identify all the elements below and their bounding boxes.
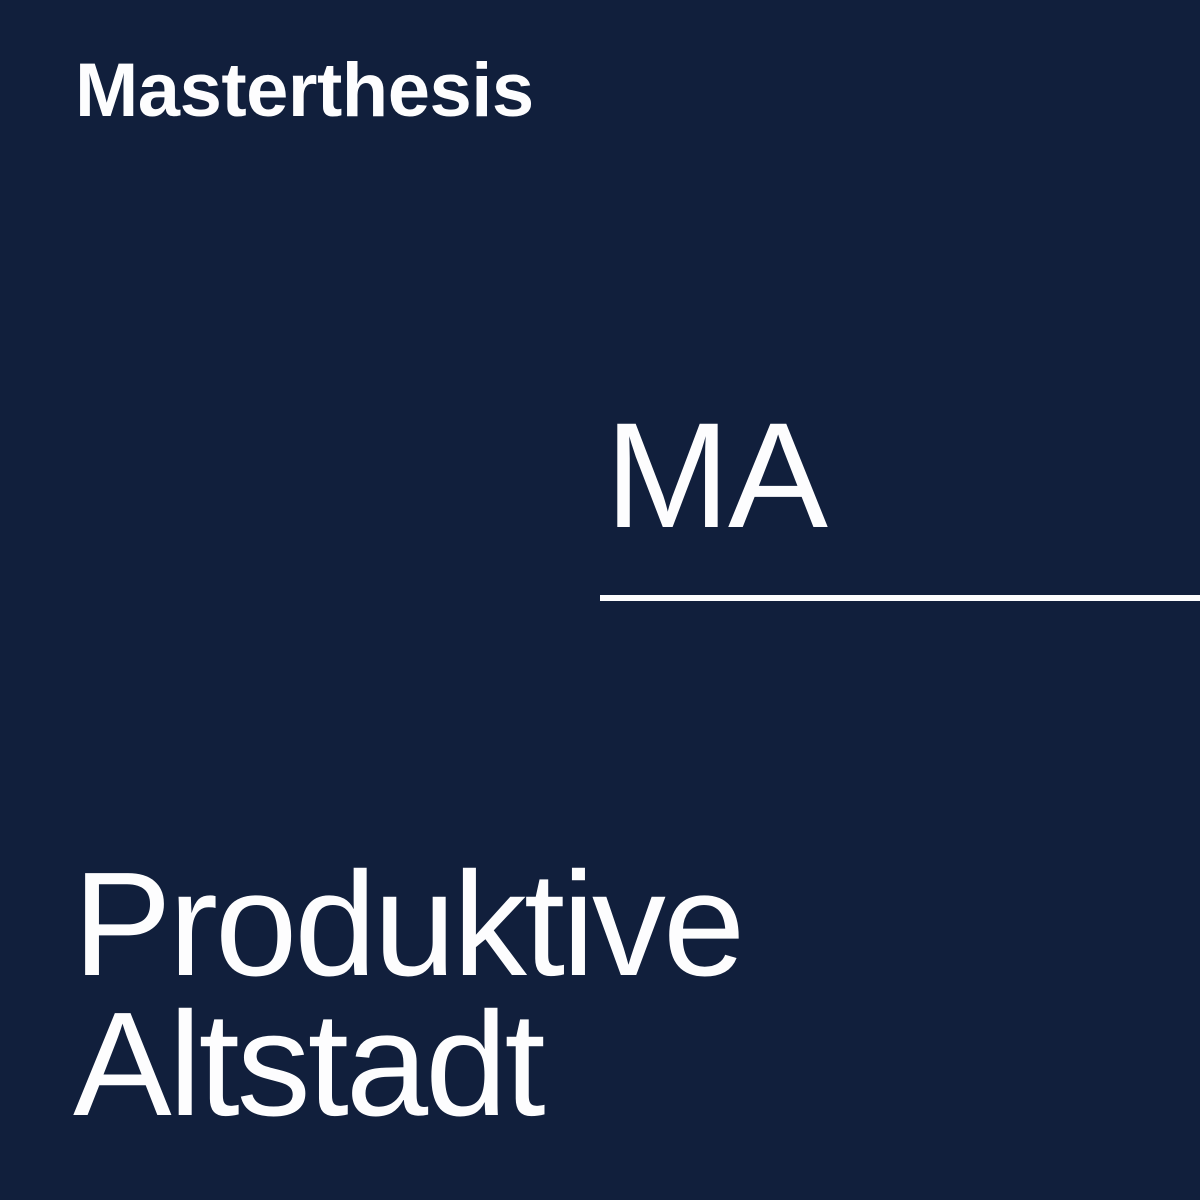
- page-title: Produktive Altstadt: [73, 855, 1200, 1135]
- abbreviation-block: MA: [600, 400, 1200, 550]
- horizontal-rule-divider: [600, 595, 1200, 601]
- eyebrow-label: Masterthesis: [75, 48, 534, 134]
- abbreviation-label: MA: [600, 400, 1200, 550]
- poster-canvas: Masterthesis MA Produktive Altstadt: [0, 0, 1200, 1200]
